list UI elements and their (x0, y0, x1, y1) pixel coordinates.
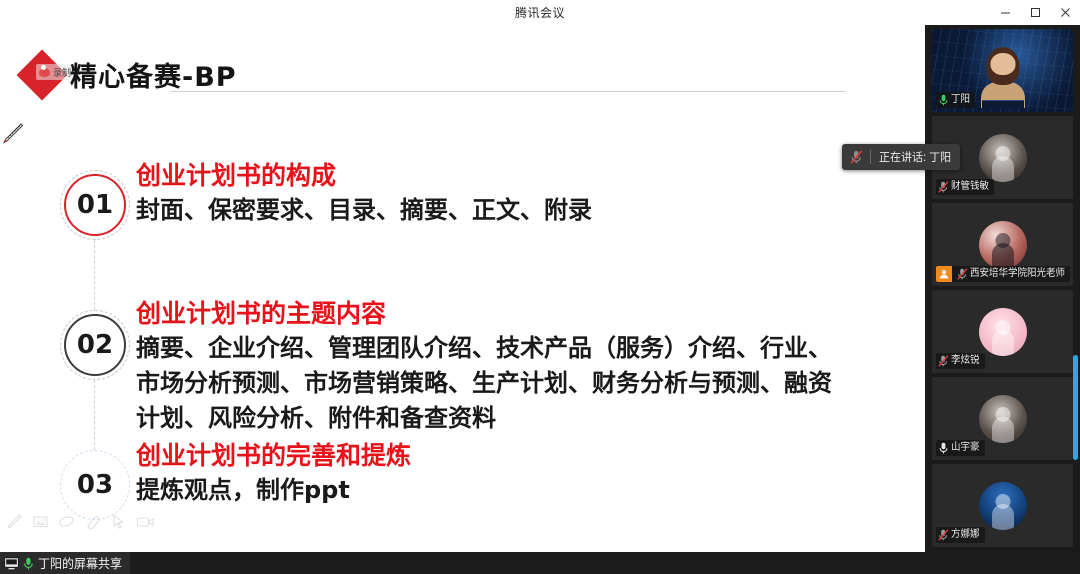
mic-muted-icon (936, 353, 951, 369)
annotation-toolbar[interactable] (6, 513, 155, 530)
mic-on-icon (936, 440, 951, 456)
avatar (979, 308, 1027, 356)
toast-divider (870, 150, 871, 164)
pencil-icon[interactable] (6, 513, 23, 530)
host-badge-icon (936, 266, 952, 282)
item-text-block: 创业计划书的完善和提炼 提炼观点，制作ppt (136, 439, 411, 507)
participant-name: 山宇豪 (951, 443, 980, 453)
item-subtext-line: 提炼观点，制作ppt (136, 473, 411, 507)
participant-name-chip: 财管钱敏 (936, 179, 994, 195)
app-title: 腾讯会议 (0, 4, 1080, 21)
pencil-annotation-icon (2, 122, 24, 144)
participant-tile[interactable]: 李炫锐 (932, 290, 1073, 373)
avatar (979, 134, 1027, 182)
participant-tile[interactable]: 山宇豪 (932, 377, 1073, 460)
avatar (979, 482, 1027, 530)
maximize-button[interactable] (1020, 0, 1050, 25)
participant-name: 李炫锐 (951, 356, 980, 366)
figure-hair (986, 47, 1019, 85)
item-subtext-line: 市场分析预测、市场营销策略、生产计划、财务分析与预测、融资 (136, 366, 832, 401)
avatar-silhouette-icon (979, 134, 1027, 182)
mic-muted-icon (849, 149, 864, 165)
restore-icon (1030, 7, 1041, 18)
participant-figure (980, 50, 1026, 108)
monitor-icon (4, 557, 19, 570)
item-connector-2 (94, 380, 95, 450)
item-number-badge: 03 (60, 450, 130, 520)
item-subtext-line: 摘要、企业介绍、管理团队介绍、技术产品（服务）介绍、行业、 (136, 331, 832, 366)
item-number-label: 01 (64, 174, 126, 236)
participant-name-chip: 西安培华学院阳光老师 (936, 266, 1070, 282)
image-icon[interactable] (32, 513, 49, 530)
rail-scrollbar[interactable] (1073, 355, 1078, 460)
ellipse-icon[interactable] (58, 513, 75, 530)
avatar-silhouette-icon (979, 482, 1027, 530)
participant-rail[interactable]: 丁阳 财管钱敏 (925, 25, 1080, 574)
participant-name: 西安培华学院阳光老师 (970, 269, 1065, 279)
slide-header: 录制中 精心备赛-BP (18, 47, 863, 109)
item-text-block: 创业计划书的主题内容 摘要、企业介绍、管理团队介绍、技术产品（服务）介绍、行业、… (136, 297, 832, 436)
title-bar: 腾讯会议 (0, 0, 1080, 25)
item-subtext: 提炼观点，制作ppt (136, 473, 411, 507)
avatar-silhouette-icon (979, 308, 1027, 356)
recording-dot-icon (39, 68, 50, 77)
item-heading: 创业计划书的完善和提炼 (136, 439, 411, 473)
close-icon (1060, 7, 1071, 18)
item-subtext: 摘要、企业介绍、管理团队介绍、技术产品（服务）介绍、行业、 市场分析预测、市场营… (136, 331, 832, 436)
minimize-icon (1000, 7, 1011, 18)
participant-name-chip: 山宇豪 (936, 440, 985, 456)
item-subtext: 封面、保密要求、目录、摘要、正文、附录 (136, 193, 592, 227)
avatar-silhouette-icon (979, 221, 1027, 269)
taskbar: 丁阳的屏幕共享 (0, 552, 1080, 574)
avatar (979, 395, 1027, 443)
item-subtext-line: 封面、保密要求、目录、摘要、正文、附录 (136, 193, 592, 227)
minimize-button[interactable] (990, 0, 1020, 25)
shared-screen-view[interactable]: 录制中 精心备赛-BP 01 (0, 25, 925, 552)
slide-title: 精心备赛-BP (70, 55, 237, 94)
participant-name: 丁阳 (951, 95, 970, 105)
item-number-label: 03 (64, 454, 126, 516)
item-text-block: 创业计划书的构成 封面、保密要求、目录、摘要、正文、附录 (136, 159, 592, 227)
participant-tile[interactable]: 西安培华学院阳光老师 (932, 203, 1073, 286)
mic-muted-icon (955, 266, 970, 282)
camera-icon[interactable] (136, 513, 155, 530)
title-underline-rule (170, 91, 846, 92)
participant-name: 方娜娜 (951, 530, 980, 540)
item-subtext-line: 计划、风险分析、附件和备查资料 (136, 401, 832, 436)
item-number-badge: 01 (60, 170, 130, 240)
presentation-slide: 录制中 精心备赛-BP 01 (0, 25, 925, 552)
speaking-indicator-toast: 正在讲话: 丁阳 (842, 144, 960, 170)
mic-on-icon (936, 92, 951, 108)
figure-laptop (982, 100, 1024, 109)
mic-muted-icon (936, 179, 951, 195)
mic-on-icon (23, 557, 34, 570)
window-controls (990, 0, 1080, 25)
participant-name: 财管钱敏 (951, 182, 989, 192)
screen-share-status[interactable]: 丁阳的屏幕共享 (0, 552, 130, 574)
avatar (979, 221, 1027, 269)
participant-name-chip: 丁阳 (936, 92, 975, 108)
participant-name-chip: 李炫锐 (936, 353, 985, 369)
speaking-indicator-label: 正在讲话: 丁阳 (879, 149, 951, 166)
close-button[interactable] (1050, 0, 1080, 25)
screen-share-label: 丁阳的屏幕共享 (38, 554, 122, 572)
item-connector-1 (94, 240, 95, 310)
mic-muted-icon (936, 527, 951, 543)
participant-tile[interactable]: 方娜娜 (932, 464, 1073, 547)
avatar-silhouette-icon (979, 395, 1027, 443)
participant-name-chip: 方娜娜 (936, 527, 985, 543)
item-number-label: 02 (64, 314, 126, 376)
tencent-meeting-window: 腾讯会议 (0, 0, 1080, 574)
cursor-icon[interactable] (110, 513, 127, 530)
item-heading: 创业计划书的构成 (136, 159, 592, 193)
participant-tile[interactable]: 丁阳 (932, 29, 1073, 112)
item-heading: 创业计划书的主题内容 (136, 297, 832, 331)
item-number-badge: 02 (60, 310, 130, 380)
eraser-icon[interactable] (84, 513, 101, 530)
